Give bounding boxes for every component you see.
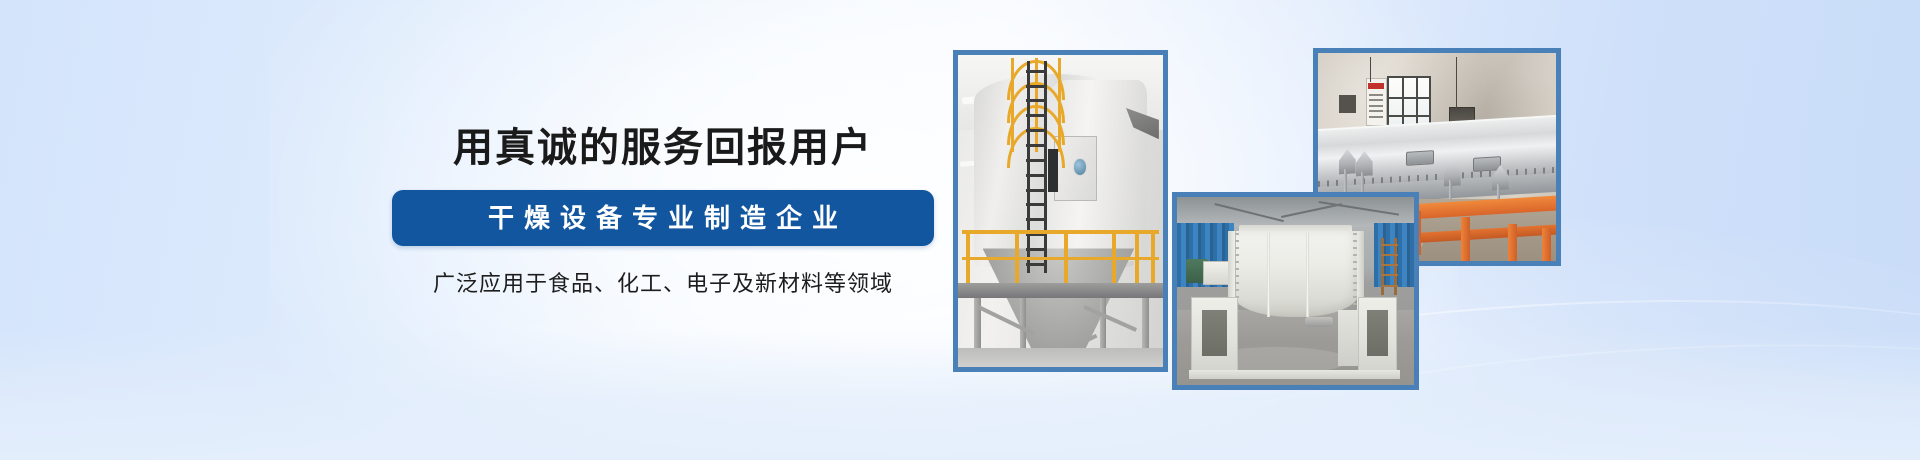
- support-pedestal-left: [1191, 297, 1238, 378]
- wall-notice-sign: [1366, 78, 1387, 126]
- orange-frame-leg: [1461, 217, 1470, 261]
- discharge-outlet: [1305, 317, 1333, 326]
- wooden-ladder: [1378, 238, 1399, 294]
- banner-text-block: 用真诚的服务回报用户 干燥设备专业制造企业 广泛应用于食品、化工、电子及新材料等…: [358, 128, 968, 298]
- banner-badge: 干燥设备专业制造企业: [392, 190, 934, 246]
- service-platform-railing: [962, 230, 1159, 286]
- inspection-hatch: [1473, 156, 1501, 172]
- sight-glass-icon: [1073, 158, 1087, 176]
- platform-deck: [958, 283, 1163, 299]
- photo-spray-dryer-tower: [953, 50, 1168, 372]
- banner-subline: 广泛应用于食品、化工、电子及新材料等领域: [358, 266, 968, 298]
- workshop-floor: [958, 348, 1163, 367]
- orange-frame-leg: [1542, 228, 1551, 261]
- orange-frame-leg: [1508, 224, 1517, 261]
- base-beam: [1189, 370, 1400, 379]
- hanging-wire: [1456, 57, 1457, 109]
- wall-junction-box: [1339, 95, 1356, 114]
- promo-banner: 用真诚的服务回报用户 干燥设备专业制造企业 广泛应用于食品、化工、电子及新材料等…: [0, 0, 1920, 460]
- mixer-vessel: [1232, 231, 1360, 317]
- hanging-wire: [1370, 57, 1371, 82]
- ribbon-blender-scene: [1177, 197, 1414, 385]
- bolt-column: [1353, 233, 1357, 312]
- spray-dryer-scene: [958, 55, 1163, 367]
- support-pedestal-right: [1358, 297, 1398, 378]
- inspection-hatch: [1406, 150, 1434, 166]
- photo-ribbon-blender-mixer: [1172, 192, 1419, 390]
- banner-headline: 用真诚的服务回报用户: [358, 128, 968, 168]
